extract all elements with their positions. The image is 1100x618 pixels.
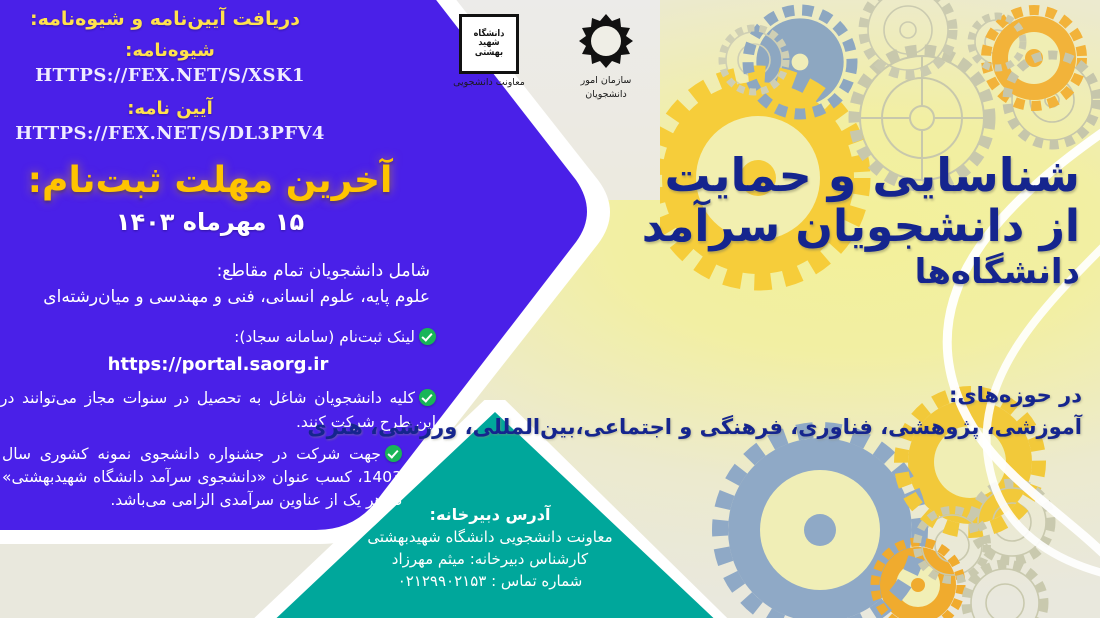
downloads-heading-text: دریافت آیین‌نامه و شیوه‌نامه:: [0, 8, 330, 30]
organization-logo-caption-1: سازمان امور: [541, 75, 671, 86]
organization-logo-caption-2: دانشجویان: [541, 89, 671, 100]
university-emblem-text: دانشگاه شهید بهشتی: [465, 30, 514, 58]
title-line-2: از دانشجویان سرآمد: [560, 202, 1080, 251]
method-url[interactable]: HTTPS://FEX.NET/S/XSK1: [0, 65, 340, 86]
university-emblem-icon: دانشگاه شهید بهشتی: [459, 14, 519, 74]
logo-organization: سازمان امور دانشجویان: [541, 10, 671, 100]
fields-title: در حوزه‌های:: [72, 383, 1082, 407]
levels-line-1: شامل دانشجویان تمام مقاطع:: [10, 258, 430, 284]
method-label: شیوه‌نامه:: [0, 40, 340, 61]
contact-line-1: معاونت دانشجویی دانشگاه شهیدبهشتی: [300, 527, 680, 549]
levels-block: شامل دانشجویان تمام مقاطع: علوم پایه، عل…: [0, 258, 430, 311]
university-logo-caption: معاونت دانشجویی: [429, 77, 549, 88]
contact-block: آدرس دبیرخانه: معاونت دانشجویی دانشگاه ش…: [300, 505, 680, 592]
deadline-title: آخرین مهلت ثبت‌نام:: [0, 160, 420, 201]
title-line-3: دانشگاه‌ها: [560, 253, 1080, 292]
green-check-icon: [385, 445, 402, 462]
fields-list: آموزشی، پژوهشی، فناوری، فرهنگی و اجتماعی…: [72, 415, 1082, 439]
registration-url[interactable]: https://portal.saorg.ir: [0, 351, 436, 378]
logo-row: دانشگاه شهید بهشتی معاونت دانشجویی سازما…: [425, 6, 665, 116]
logo-university: دانشگاه شهید بهشتی معاونت دانشجویی: [429, 14, 549, 88]
contact-phone: شماره تماس : ۰۲۱۲۹۹۰۲۱۵۳: [300, 571, 680, 593]
bullet-text-3: جهت شرکت در جشنواره دانشجوی نمونه کشوری …: [2, 445, 402, 510]
title-line-1: شناسایی و حمایت: [560, 150, 1080, 202]
organization-emblem-icon: [571, 10, 641, 72]
contact-title: آدرس دبیرخانه:: [300, 505, 680, 524]
regulation-label: آیین نامه:: [0, 98, 340, 119]
method-block: شیوه‌نامه: HTTPS://FEX.NET/S/XSK1: [0, 40, 340, 86]
page-title: شناسایی و حمایت از دانشجویان سرآمد دانشگ…: [560, 150, 1080, 292]
list-item: لینک ثبت‌نام (سامانه سجاد): https://port…: [0, 326, 436, 378]
poster-root: دانشگاه شهید بهشتی معاونت دانشجویی سازما…: [0, 0, 1100, 618]
regulation-block: آیین نامه: HTTPS://FEX.NET/S/DL3PFV4: [0, 98, 340, 144]
downloads-heading: دریافت آیین‌نامه و شیوه‌نامه:: [0, 8, 330, 30]
bullet-text-1: لینک ثبت‌نام (سامانه سجاد):: [234, 328, 415, 346]
contact-line-2: کارشناس دبیرخانه: میثم مهرزاد: [300, 549, 680, 571]
levels-line-2: علوم پایه، علوم انسانی، فنی و مهندسی و م…: [10, 284, 430, 310]
green-check-icon: [419, 328, 436, 345]
fields-block: در حوزه‌های: آموزشی، پژوهشی، فناوری، فره…: [72, 383, 1082, 439]
list-item: جهت شرکت در جشنواره دانشجوی نمونه کشوری …: [2, 443, 402, 513]
deadline-date: ۱۵ مهرماه ۱۴۰۳: [0, 208, 420, 236]
regulation-url[interactable]: HTTPS://FEX.NET/S/DL3PFV4: [0, 123, 340, 144]
